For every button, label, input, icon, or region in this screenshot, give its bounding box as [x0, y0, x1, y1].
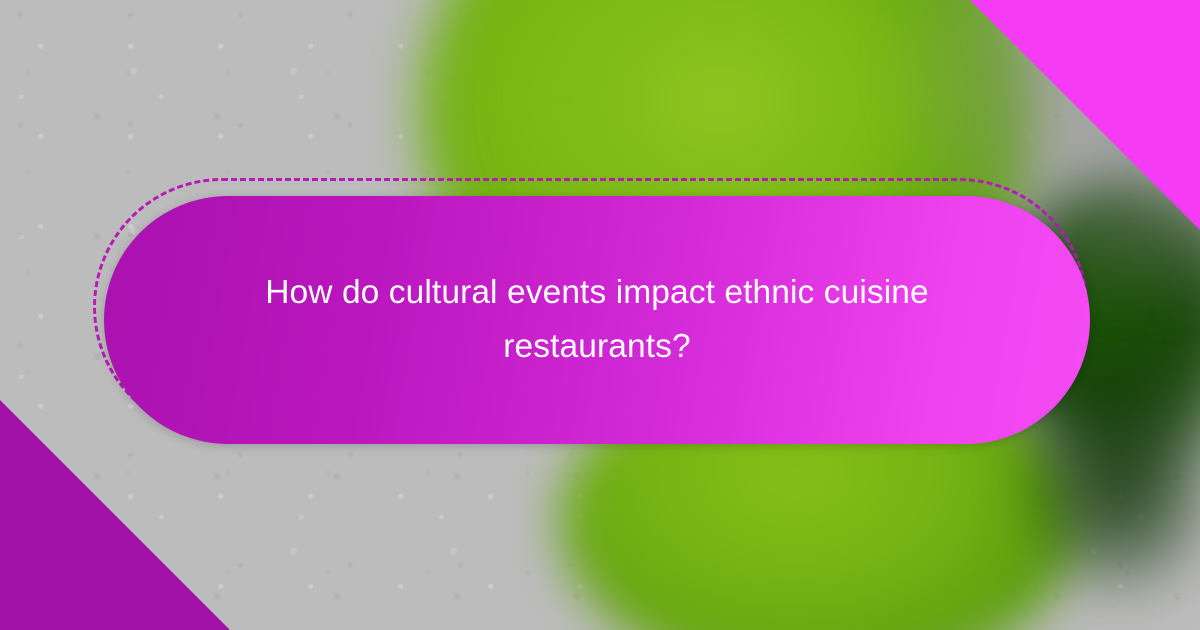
question-title: How do cultural events impact ethnic cui…: [222, 266, 972, 374]
question-card: How do cultural events impact ethnic cui…: [104, 196, 1090, 444]
share-card-canvas: How do cultural events impact ethnic cui…: [0, 0, 1200, 630]
